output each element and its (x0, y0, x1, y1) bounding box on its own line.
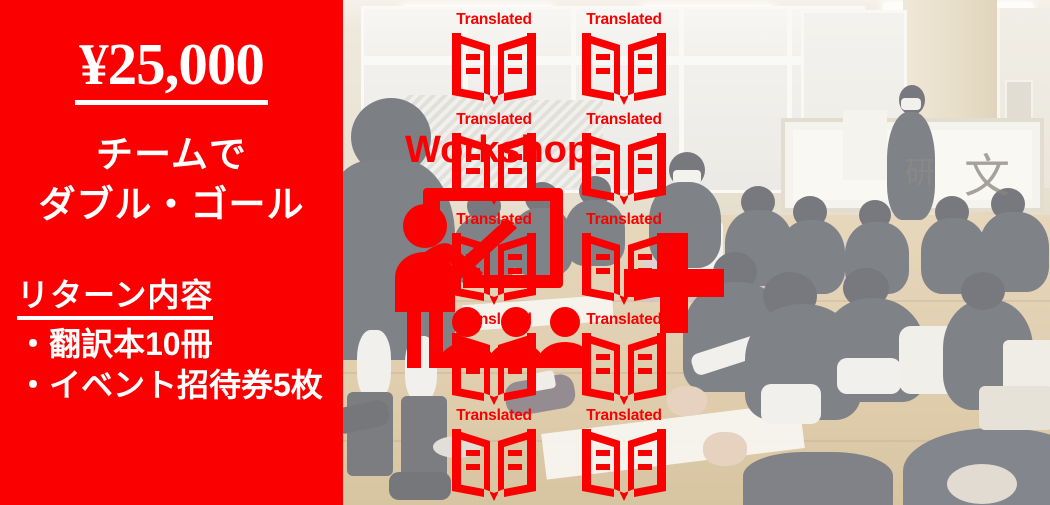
translated-badge: Translated (573, 212, 675, 228)
tagline: チームで ダブル・ゴール (0, 130, 343, 230)
translated-badge: Translated (573, 312, 675, 328)
translated-book-item: Translated (573, 12, 675, 107)
translated-book-item: Translated (443, 312, 545, 407)
translated-book-item: Translated (443, 212, 545, 307)
open-book-icon (582, 331, 666, 407)
return-list: ・翻訳本10冊 ・イベント招待券5枚 (17, 324, 343, 406)
translated-badge: Translated (443, 212, 545, 228)
open-book-icon (582, 231, 666, 307)
open-book-icon (582, 427, 666, 503)
price-amount: ¥25,000 (75, 34, 268, 105)
return-list-item: ・翻訳本10冊 (17, 324, 343, 365)
translated-book-item: Translated (573, 312, 675, 407)
open-book-icon (452, 331, 536, 407)
tagline-line-2: ダブル・ゴール (0, 180, 343, 230)
translated-book-item: Translated (573, 212, 675, 307)
price-row: ¥25,000 (0, 34, 343, 105)
translated-book-item: Translated (573, 112, 675, 207)
open-book-icon (452, 131, 536, 207)
open-book-icon (582, 131, 666, 207)
open-book-icon (452, 231, 536, 307)
return-block: リターン内容 ・翻訳本10冊 ・イベント招待券5枚 (17, 277, 343, 406)
open-book-icon (452, 427, 536, 503)
translated-badge: Translated (573, 112, 675, 128)
open-book-icon (452, 31, 536, 107)
translated-badge: Translated (443, 12, 545, 28)
translated-book-item: Translated (443, 408, 545, 503)
return-title: リターン内容 (17, 277, 213, 320)
reward-info-panel: ¥25,000 チームで ダブル・ゴール リターン内容 ・翻訳本10冊 ・イベン… (0, 0, 343, 505)
translated-book-item: Translated (443, 12, 545, 107)
translated-book-item: Translated (573, 408, 675, 503)
translated-badge: Translated (573, 408, 675, 424)
translated-book-item: Translated (443, 112, 545, 207)
translated-badge: Translated (443, 112, 545, 128)
open-book-icon (582, 31, 666, 107)
translated-books-grid: Translated Translat (443, 0, 707, 505)
translated-badge: Translated (443, 312, 545, 328)
translated-badge: Translated (573, 12, 675, 28)
reward-tier-banner: 文 研 (0, 0, 1050, 505)
return-title-wrap: リターン内容 (17, 277, 343, 320)
tagline-line-1: チームで (0, 130, 343, 180)
translated-badge: Translated (443, 408, 545, 424)
return-list-item: ・イベント招待券5枚 (17, 365, 343, 406)
